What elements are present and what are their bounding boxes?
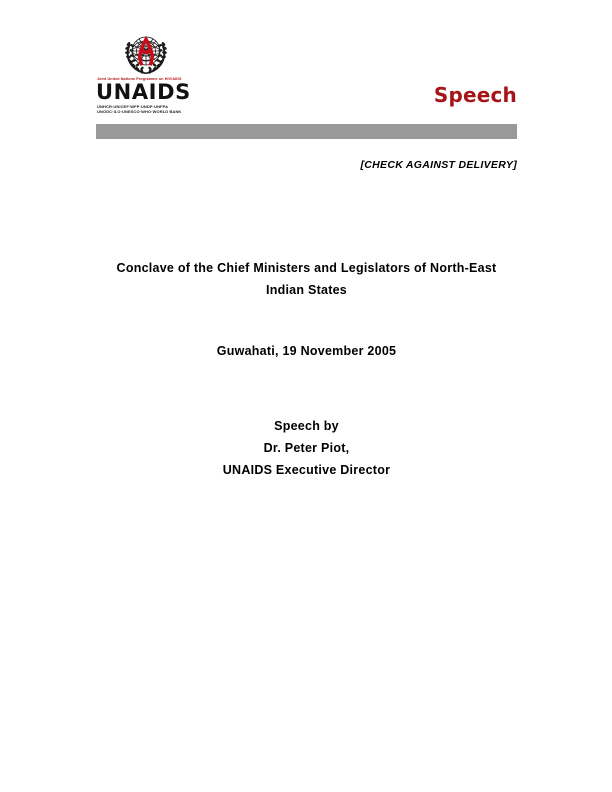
speaker-prefix: Speech by	[96, 416, 517, 438]
event-location-and-date: Guwahati, 19 November 2005	[96, 344, 517, 358]
unaids-logo: Joint United Nations Programme on HIV/AI…	[96, 30, 196, 115]
speaker-block: Speech by Dr. Peter Piot, UNAIDS Executi…	[96, 416, 517, 482]
un-emblem-icon	[120, 30, 172, 76]
check-against-delivery-note: [CHECK AGAINST DELIVERY]	[360, 159, 517, 171]
document-page: Joint United Nations Programme on HIV/AI…	[0, 0, 612, 792]
document-type-label: Speech	[434, 85, 517, 105]
unaids-cosponsors-line-2: UNODC·ILO·UNESCO·WHO·WORLD BANK	[97, 109, 196, 114]
event-title: Conclave of the Chief Ministers and Legi…	[96, 258, 517, 302]
title-block: Conclave of the Chief Ministers and Legi…	[96, 258, 517, 302]
header-divider-bar	[96, 124, 517, 139]
speaker-title: UNAIDS Executive Director	[96, 460, 517, 482]
unaids-tagline: Joint United Nations Programme on HIV/AI…	[97, 78, 198, 82]
unaids-wordmark: UNAIDS	[96, 82, 196, 103]
speaker-name: Dr. Peter Piot,	[96, 438, 517, 460]
